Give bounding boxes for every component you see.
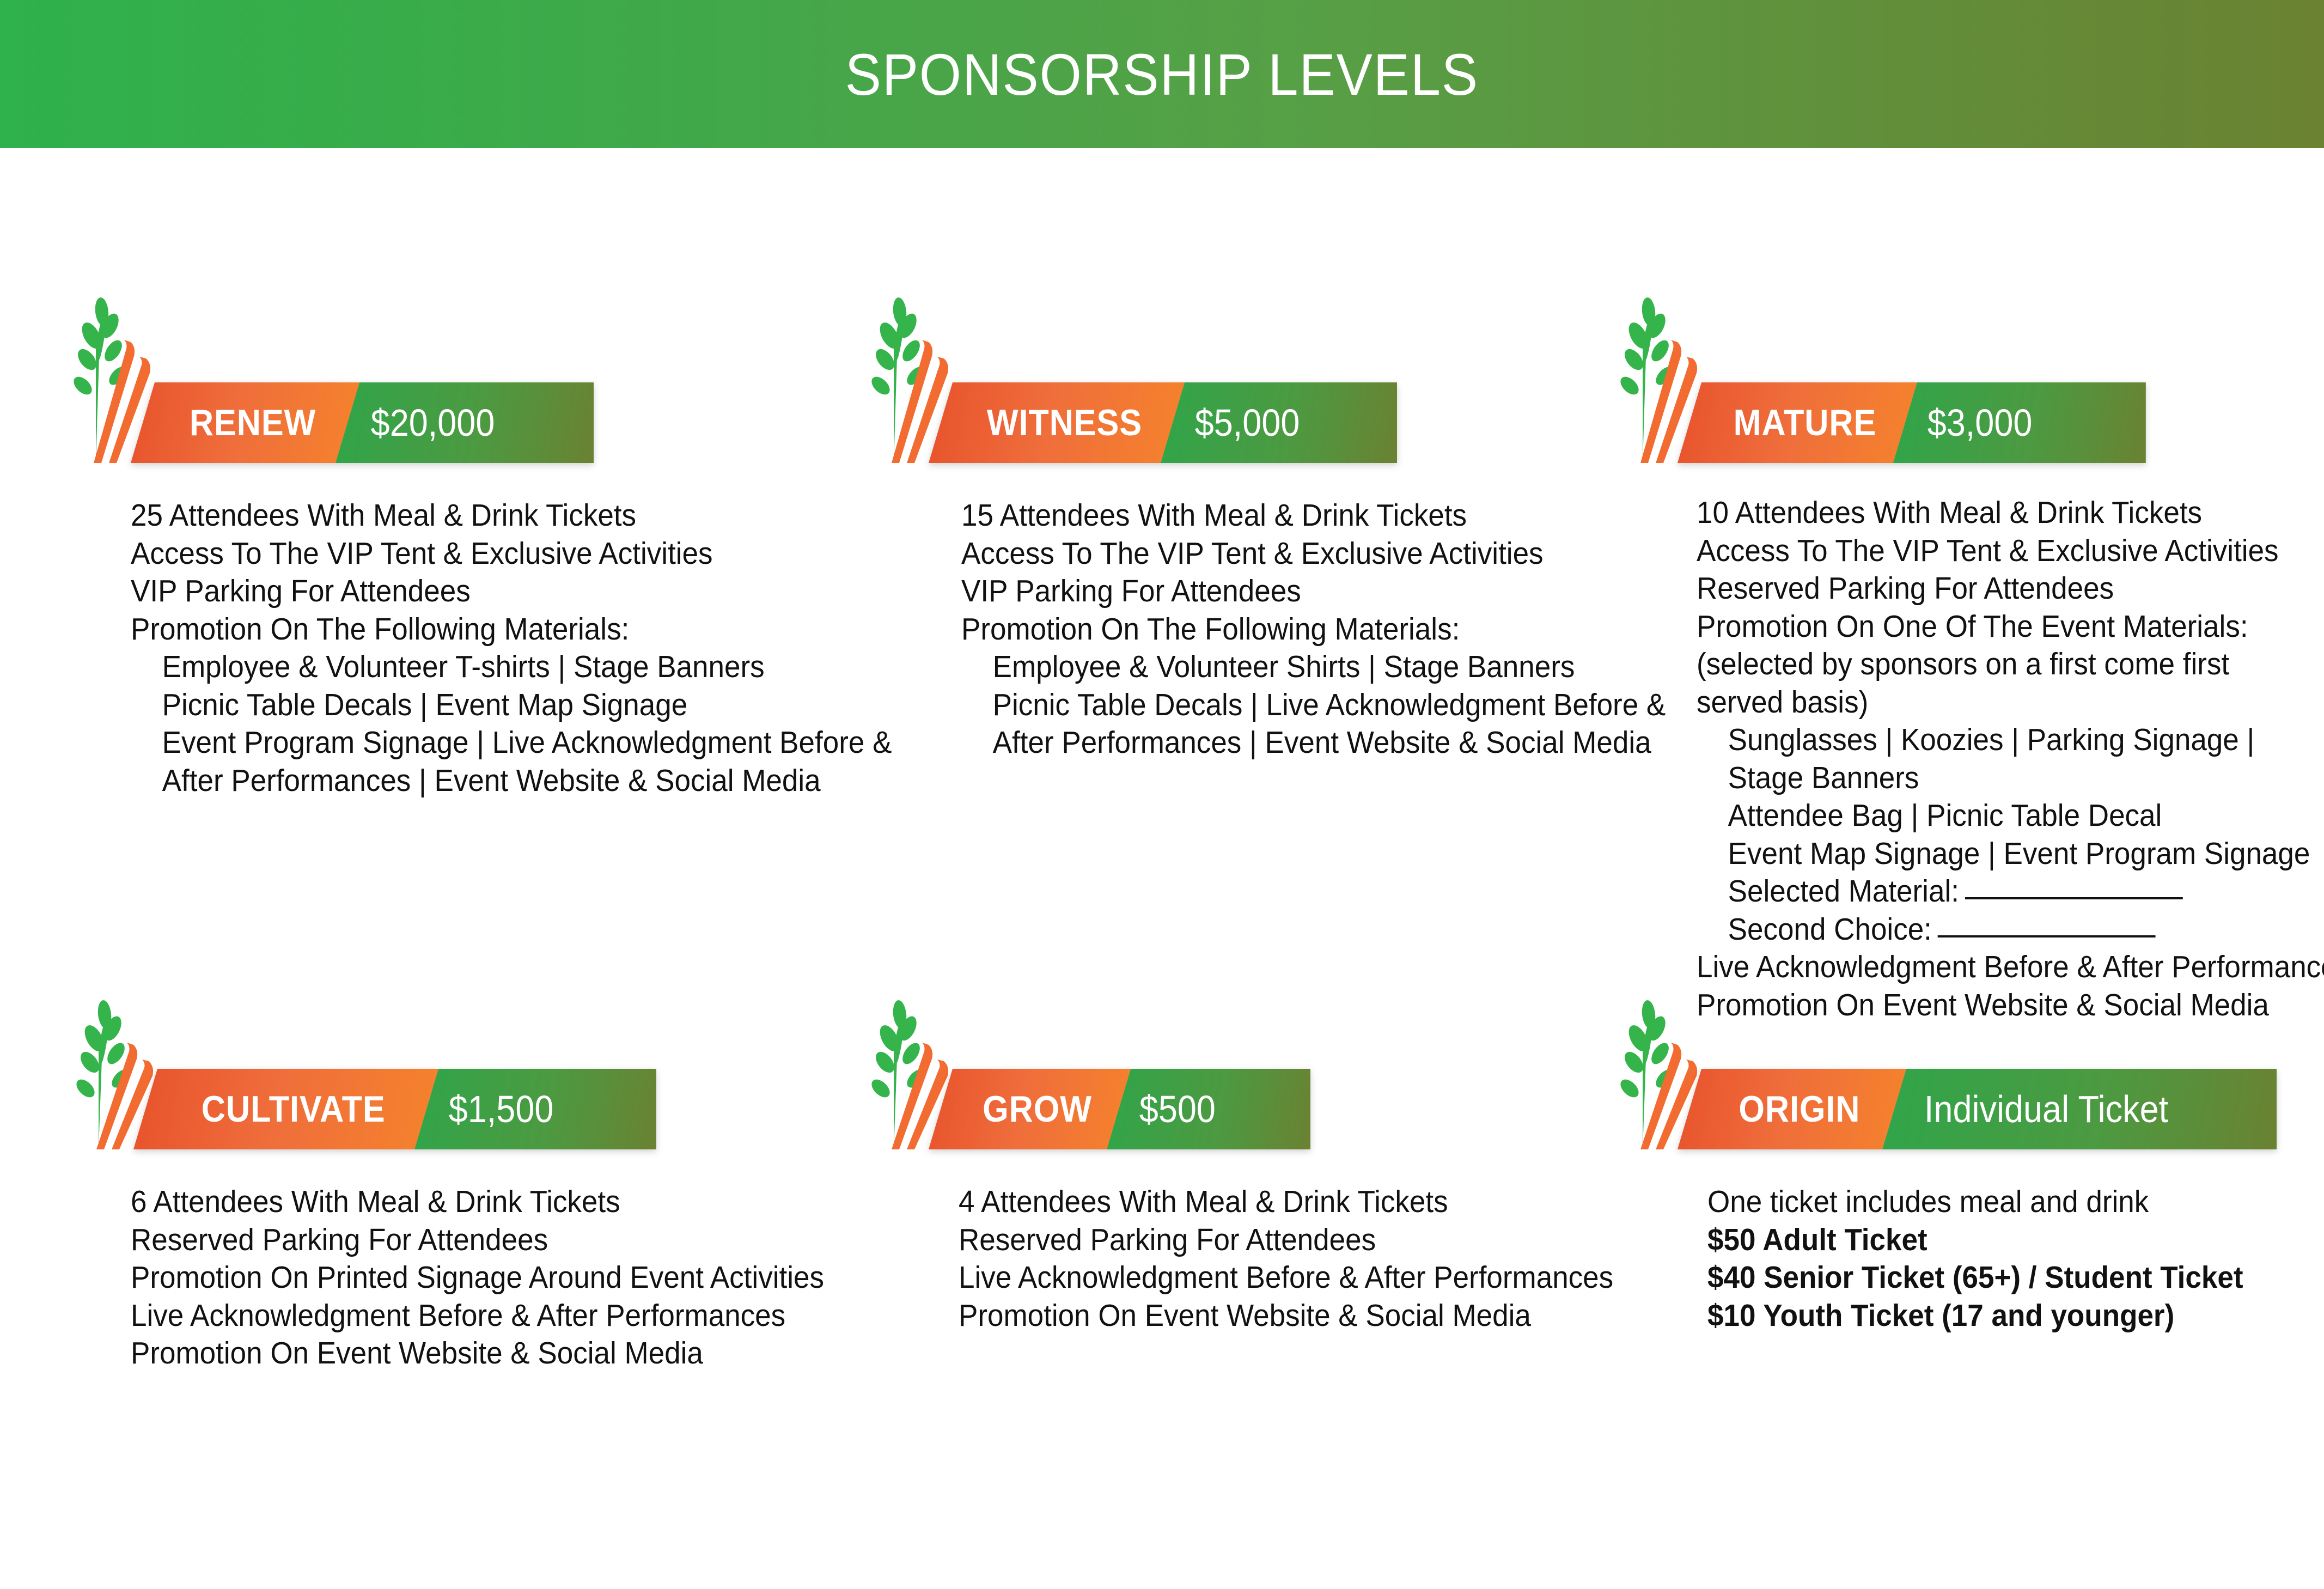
benefit-text: Live Acknowledgment Before & After Perfo… <box>959 1260 1613 1295</box>
benefit-line: $10 Youth Ticket (17 and younger) <box>1707 1297 2243 1335</box>
benefit-line: 4 Attendees With Meal & Drink Tickets <box>959 1183 1613 1221</box>
benefit-line: Live Acknowledgment Before & After Perfo… <box>959 1259 1613 1297</box>
benefit-line: Promotion On Event Website & Social Medi… <box>959 1297 1613 1335</box>
benefit-line: Promotion On Printed Signage Around Even… <box>131 1259 824 1297</box>
benefit-text: 4 Attendees With Meal & Drink Tickets <box>959 1184 1448 1219</box>
page-title: SPONSORSHIP LEVELS <box>845 40 1479 108</box>
tier-banner: GROW$500 <box>929 1069 1310 1149</box>
benefit-line: $50 Adult Ticket <box>1707 1221 2243 1259</box>
tier-banner: CULTIVATE$1,500 <box>133 1069 656 1149</box>
tier-name-plate: ORIGIN <box>1678 1069 1906 1149</box>
benefit-line: Live Acknowledgment Before & After Perfo… <box>131 1297 824 1335</box>
benefit-text: Reserved Parking For Attendees <box>131 1222 548 1257</box>
tier-banner: ORIGINIndividual Ticket <box>1678 1069 2277 1149</box>
tier-grow: GROW$5004 Attendees With Meal & Drink Ti… <box>847 148 1566 1589</box>
tier-name-plate: CULTIVATE <box>133 1069 438 1149</box>
tier-benefit-list: One ticket includes meal and drink$50 Ad… <box>1707 1183 2284 1335</box>
tier-name-plate: GROW <box>929 1069 1131 1149</box>
benefit-text: $10 Youth Ticket (17 and younger) <box>1707 1298 2174 1333</box>
benefit-line: $40 Senior Ticket (65+) / Student Ticket <box>1707 1259 2243 1297</box>
benefit-line: Promotion On Event Website & Social Medi… <box>131 1335 824 1373</box>
benefit-text: Promotion On Printed Signage Around Even… <box>131 1260 824 1295</box>
tier-name-label: ORIGIN <box>1739 1088 1860 1130</box>
tier-price-plate: $1,500 <box>414 1069 656 1149</box>
page-header: SPONSORSHIP LEVELS <box>0 0 2324 148</box>
tier-name-label: CULTIVATE <box>202 1088 386 1130</box>
tier-price-label: $1,500 <box>449 1087 554 1131</box>
tier-price-plate: $500 <box>1107 1069 1310 1149</box>
tier-benefit-list: 4 Attendees With Meal & Drink TicketsRes… <box>959 1183 1663 1335</box>
benefit-text: Promotion On Event Website & Social Medi… <box>131 1336 703 1371</box>
sponsorship-tier-grid: RENEW$20,00025 Attendees With Meal & Dri… <box>0 148 2324 1589</box>
benefit-text: $50 Adult Ticket <box>1707 1222 1927 1257</box>
benefit-line: 6 Attendees With Meal & Drink Tickets <box>131 1183 824 1221</box>
tier-price-plate: Individual Ticket <box>1882 1069 2277 1149</box>
benefit-text: $40 Senior Ticket (65+) / Student Ticket <box>1707 1260 2243 1295</box>
benefit-text: Reserved Parking For Attendees <box>959 1222 1376 1257</box>
benefit-line: Reserved Parking For Attendees <box>131 1221 824 1259</box>
tier-name-label: GROW <box>983 1088 1092 1130</box>
benefit-text: 6 Attendees With Meal & Drink Tickets <box>131 1184 620 1219</box>
tier-benefit-list: 6 Attendees With Meal & Drink TicketsRes… <box>131 1183 876 1373</box>
benefit-text: One ticket includes meal and drink <box>1707 1184 2149 1219</box>
tier-price-label: Individual Ticket <box>1924 1087 2168 1131</box>
benefit-text: Promotion On Event Website & Social Medi… <box>959 1298 1531 1333</box>
benefit-line: One ticket includes meal and drink <box>1707 1183 2243 1221</box>
tier-origin: ORIGINIndividual TicketOne ticket includ… <box>1596 148 2315 1589</box>
benefit-text: Live Acknowledgment Before & After Perfo… <box>131 1298 785 1333</box>
tier-cultivate: CULTIVATE$1,5006 Attendees With Meal & D… <box>52 148 771 1589</box>
benefit-line: Reserved Parking For Attendees <box>959 1221 1613 1259</box>
tier-price-label: $500 <box>1139 1087 1216 1131</box>
